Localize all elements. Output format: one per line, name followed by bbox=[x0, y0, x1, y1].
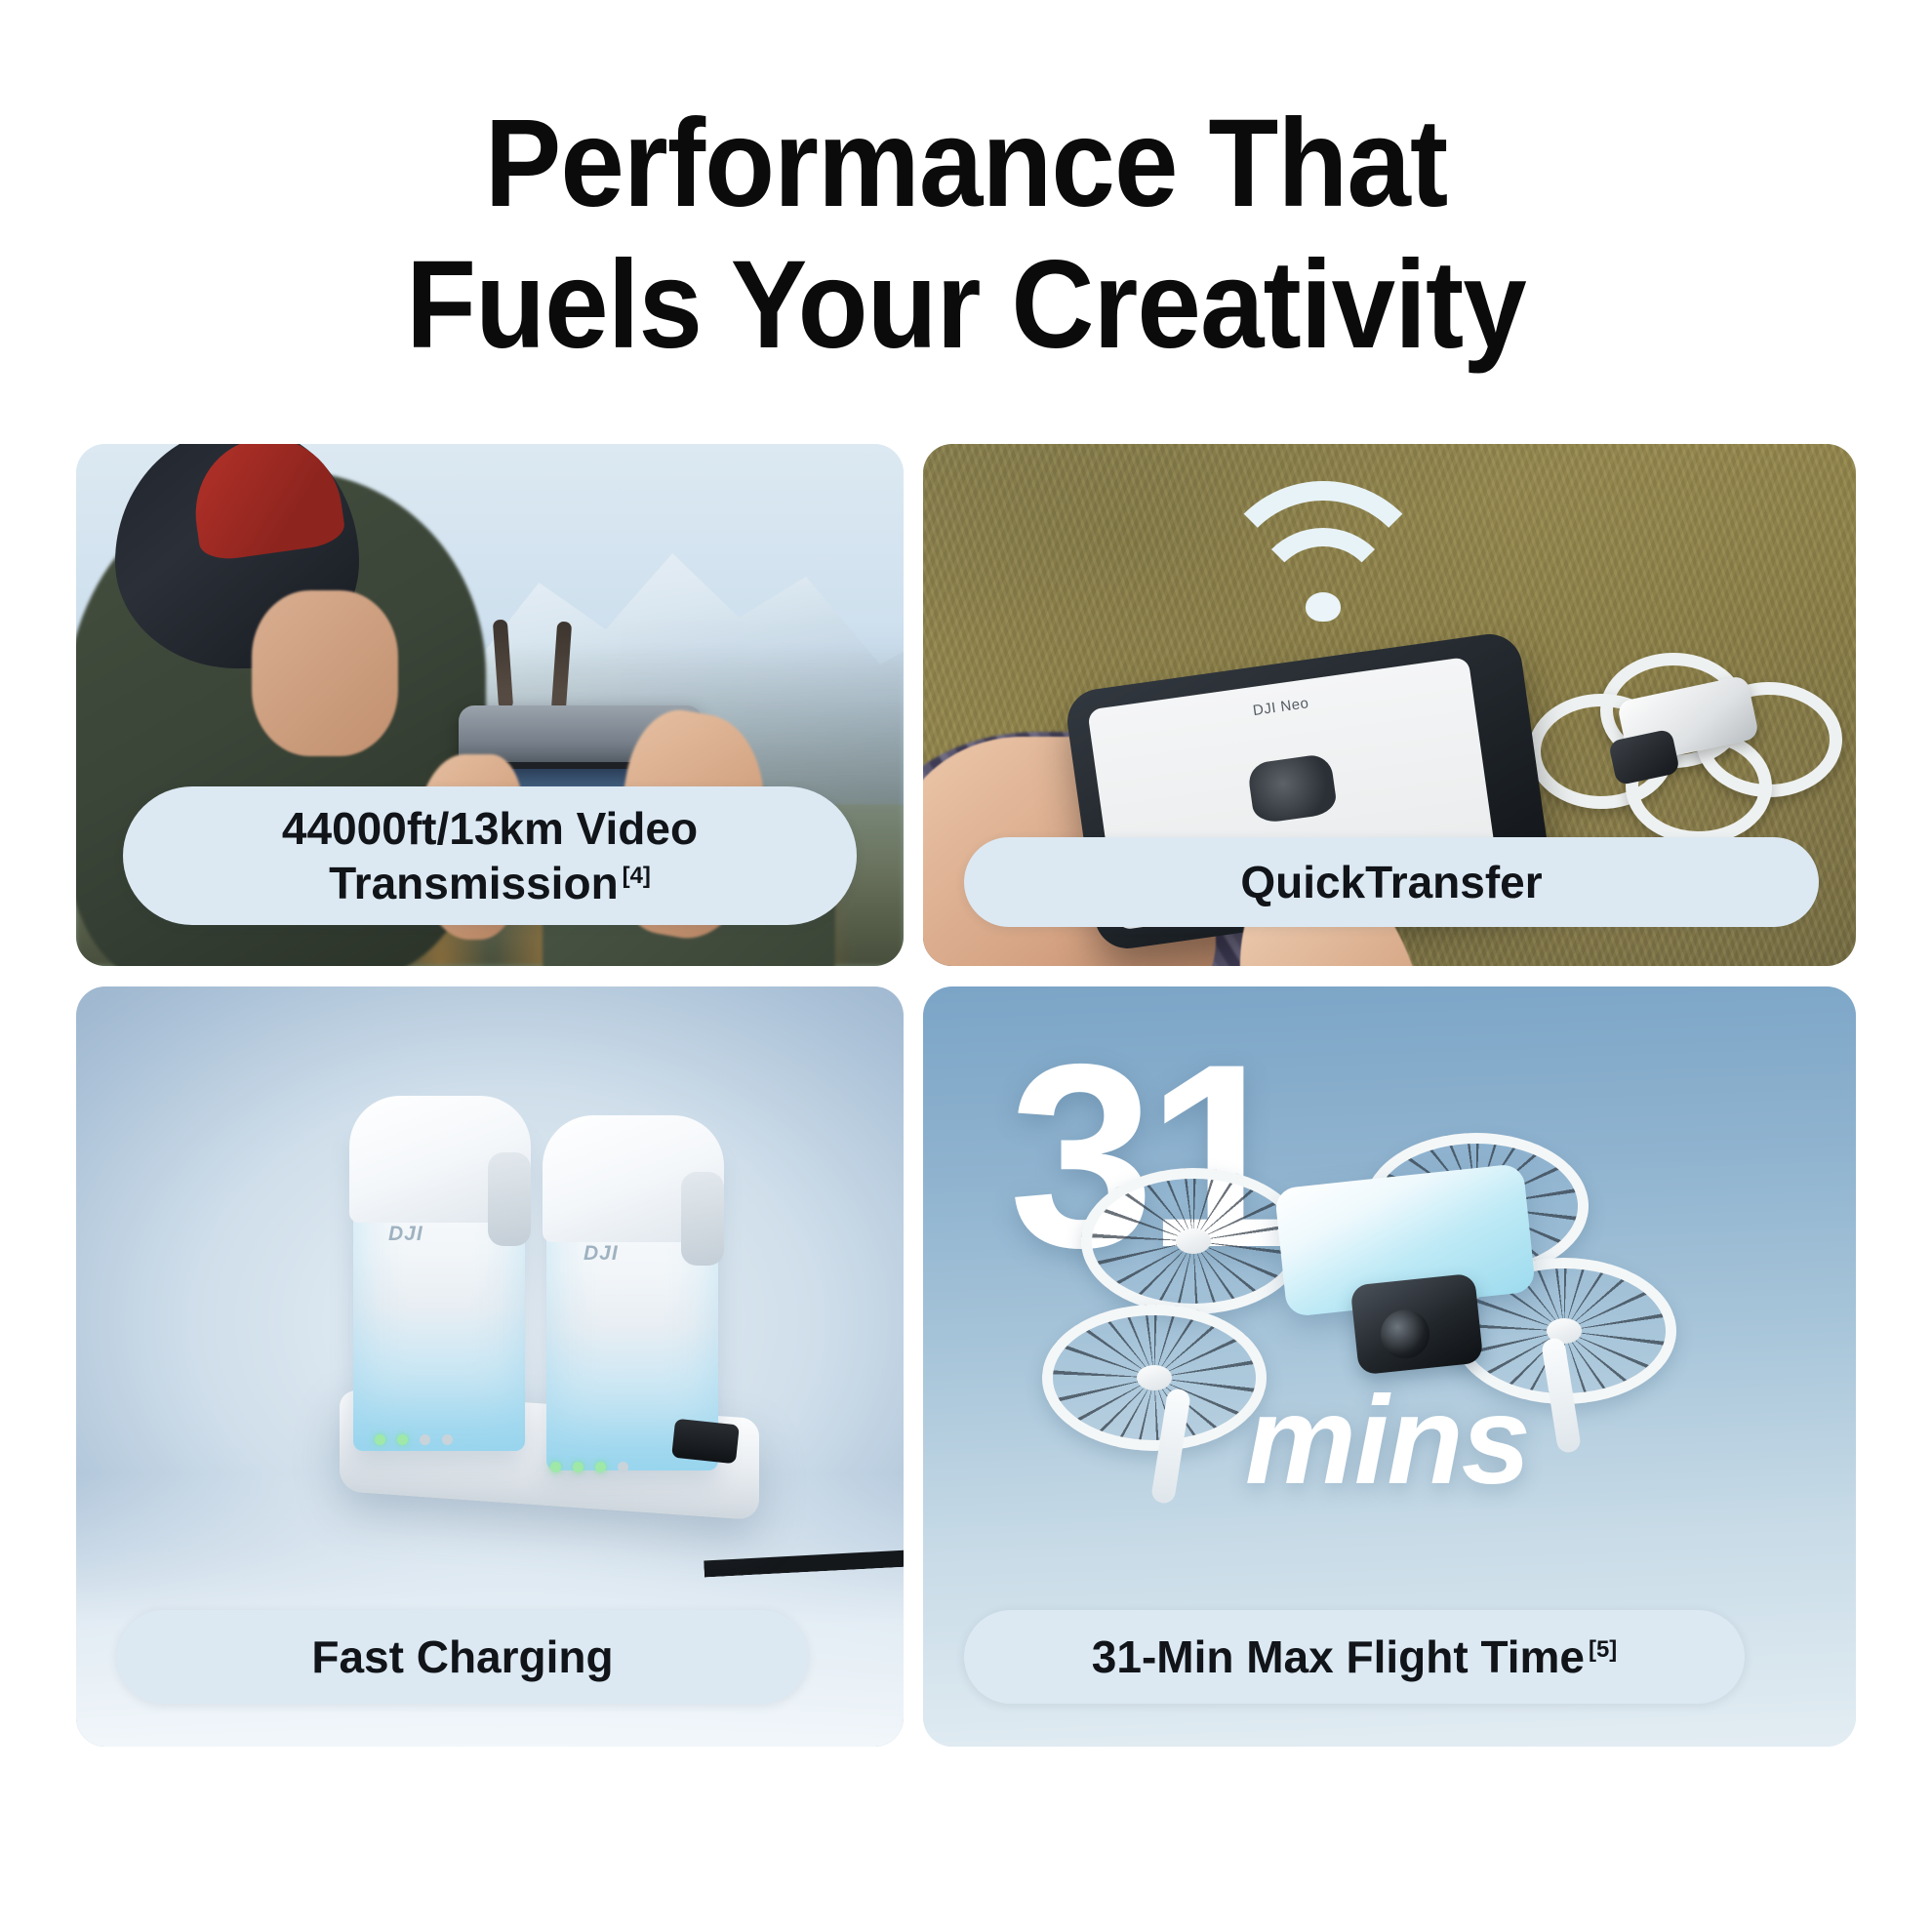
wifi-dot bbox=[1306, 592, 1341, 622]
phone-screen-drone-image bbox=[1247, 753, 1339, 825]
led-dot bbox=[375, 1434, 385, 1445]
feature-card-max-flight-time[interactable]: 31 mins 31-Min Max Flight Time[5] bbox=[923, 986, 1856, 1747]
dji-logo-1: DJI bbox=[388, 1223, 423, 1246]
person-neck bbox=[252, 590, 398, 756]
feature-card-video-transmission[interactable]: 44000ft/13km Video Transmission[4] bbox=[76, 444, 904, 966]
led-dot bbox=[573, 1462, 584, 1472]
footnote-marker: [5] bbox=[1589, 1636, 1617, 1663]
drone-gimbal-camera bbox=[1350, 1273, 1484, 1376]
spinning-propeller-3 bbox=[1042, 1305, 1267, 1451]
led-indicator-group-2 bbox=[550, 1462, 628, 1472]
card-label-quicktransfer: QuickTransfer bbox=[964, 837, 1819, 927]
card-label-video-transmission: 44000ft/13km Video Transmission[4] bbox=[123, 786, 857, 925]
led-indicator-group-1 bbox=[375, 1434, 453, 1445]
wifi-signal-icon bbox=[1206, 481, 1440, 666]
drone-on-grass bbox=[1528, 653, 1850, 858]
battery-latch-2[interactable] bbox=[681, 1172, 724, 1266]
footnote-marker: [4] bbox=[623, 863, 651, 889]
page-title: Performance That Fuels Your Creativity bbox=[77, 94, 1855, 376]
spinning-propeller-1 bbox=[1081, 1168, 1306, 1314]
phone-screen-title: DJI Neo bbox=[1089, 672, 1472, 743]
flight-time-unit: mins bbox=[1245, 1369, 1529, 1512]
feature-card-fast-charging[interactable]: DJI DJI Fast Charging bbox=[76, 986, 904, 1747]
feature-card-grid: 44000ft/13km Video Transmission[4] bbox=[76, 444, 1856, 1747]
led-dot bbox=[550, 1462, 561, 1472]
label-line-2: Transmission[4] bbox=[282, 856, 698, 910]
card-label-text: 31-Min Max Flight Time[5] bbox=[1092, 1630, 1617, 1684]
card-label-max-flight-time: 31-Min Max Flight Time[5] bbox=[964, 1610, 1745, 1704]
led-dot bbox=[397, 1434, 408, 1445]
led-dot bbox=[442, 1434, 453, 1445]
card-label-text: QuickTransfer bbox=[1240, 855, 1542, 909]
led-dot bbox=[595, 1462, 606, 1472]
cable-plug bbox=[671, 1419, 740, 1465]
dji-logo-2: DJI bbox=[584, 1242, 619, 1266]
led-dot bbox=[618, 1462, 628, 1472]
card-label-text: 44000ft/13km Video Transmission[4] bbox=[282, 801, 698, 910]
label-line-1: 44000ft/13km Video bbox=[282, 801, 698, 856]
battery-latch-1[interactable] bbox=[488, 1152, 531, 1246]
card-label-text: Fast Charging bbox=[311, 1630, 613, 1684]
card-label-fast-charging: Fast Charging bbox=[117, 1610, 808, 1704]
led-dot bbox=[420, 1434, 430, 1445]
feature-card-quicktransfer[interactable]: DJI Neo QuickTransfer bbox=[923, 444, 1856, 966]
